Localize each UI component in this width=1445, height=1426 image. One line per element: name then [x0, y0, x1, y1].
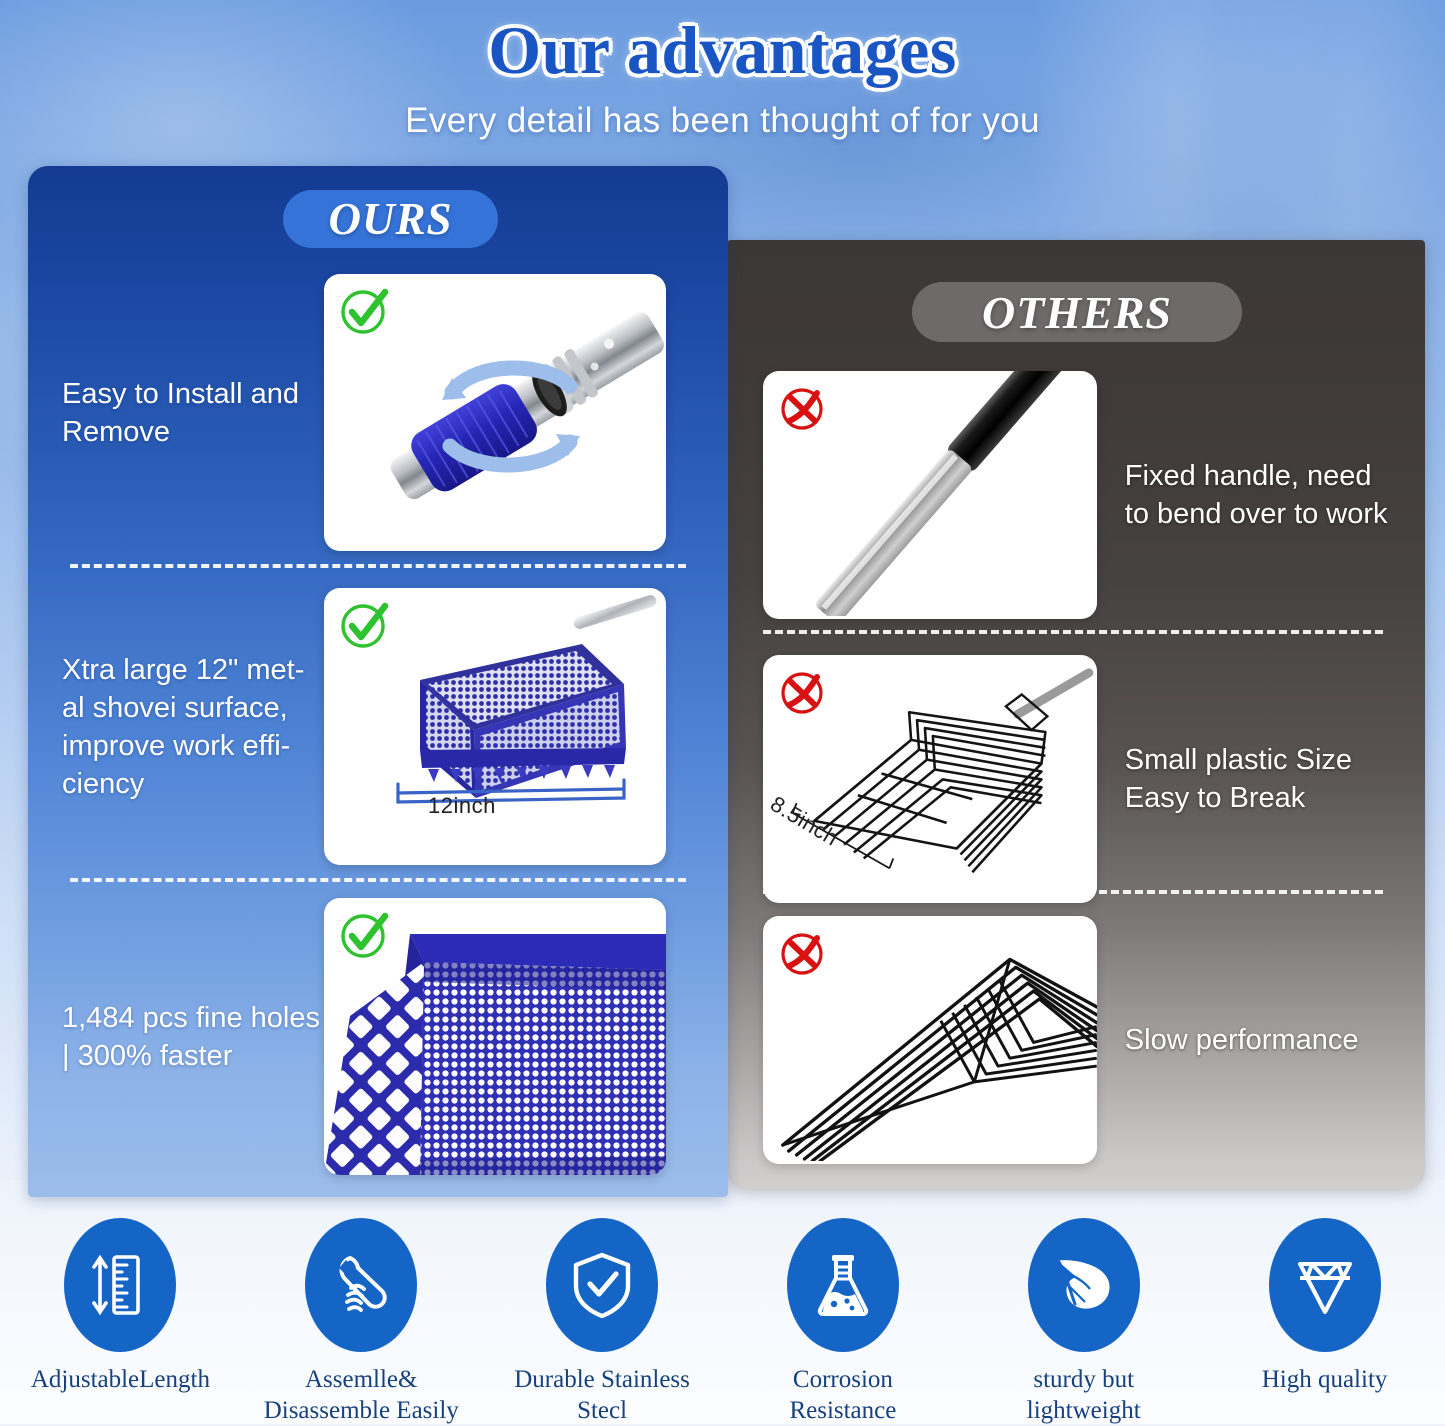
others-feature-3-image [763, 916, 1097, 1164]
icon-cell-adjustable-length: AdjustableLength [0, 1218, 241, 1424]
flask-icon-circle [787, 1218, 899, 1352]
others-feature-1-text: Fixed handle, need to bend over to work [1097, 457, 1425, 533]
wrench-hand-icon-circle [305, 1218, 417, 1352]
others-feature-3-text: Slow performance [1097, 1021, 1425, 1059]
green-check-circle-icon [338, 284, 392, 338]
others-badge: OTHERS [912, 282, 1242, 342]
ours-feature-row-1: Easy to Install and Remove [28, 270, 728, 555]
icon-label-corrosion: Corrosion Resistance [789, 1364, 896, 1426]
ours-feature-2-text: Xtra large 12" met- al shovei surface, i… [28, 651, 324, 803]
icon-cell-corrosion: Corrosion Resistance [722, 1218, 963, 1424]
feather-icon-circle [1028, 1218, 1140, 1352]
page-title: Our advantages [0, 10, 1445, 90]
icon-cell-lightweight: sturdy but lightweight [963, 1218, 1204, 1424]
others-feature-row-3: Slow performance [727, 905, 1425, 1175]
feature-icon-strip: AdjustableLength Assemlle& Disassemble E… [0, 1218, 1445, 1424]
ours-feature-row-2: Xtra large 12" met- al shovei surface, i… [28, 584, 728, 869]
shield-check-icon [565, 1248, 639, 1322]
others-feature-row-1: Fixed handle, need to bend over to work [727, 366, 1425, 624]
ours-separator-1 [70, 564, 686, 568]
green-check-circle-icon [338, 598, 392, 652]
icon-cell-stainless-steel: Durable Stainless Stecl [482, 1218, 723, 1424]
others-feature-1-image [763, 371, 1097, 619]
ours-feature-3-text: 1,484 pcs fine holes | 300% faster [28, 999, 324, 1075]
icon-label-high-quality: High quality [1262, 1364, 1388, 1395]
shield-check-icon-circle [546, 1218, 658, 1352]
icon-cell-assemble: Assemlle& Disassemble Easily [241, 1218, 482, 1424]
icon-cell-high-quality: High quality [1204, 1218, 1445, 1424]
icon-label-stainless-steel: Durable Stainless Stecl [514, 1364, 690, 1426]
ours-dimension-label: 12inch [428, 793, 496, 819]
ours-panel: OURS Easy to Install and Remove [28, 166, 728, 1197]
ours-separator-2 [70, 878, 686, 882]
others-separator-1 [763, 630, 1383, 634]
ours-badge: OURS [283, 190, 498, 248]
icon-label-lightweight: sturdy but lightweight [1027, 1364, 1141, 1426]
ours-feature-1-text: Easy to Install and Remove [28, 375, 324, 451]
diamond-icon-circle [1269, 1218, 1381, 1352]
ours-feature-3-image [324, 898, 666, 1175]
others-panel: OTHERS [727, 240, 1425, 1190]
others-feature-row-2: 8.5inch Small plastic Size Easy to Break [727, 650, 1425, 908]
red-cross-circle-icon [777, 665, 831, 719]
feather-icon [1045, 1246, 1123, 1324]
ours-feature-row-3: 1,484 pcs fine holes | 300% faster [28, 894, 728, 1179]
green-check-circle-icon [338, 908, 392, 962]
icon-label-assemble: Assemlle& Disassemble Easily [264, 1364, 459, 1426]
others-separator-2 [763, 890, 1383, 894]
page-subtitle: Every detail has been thought of for you [0, 98, 1445, 144]
icon-label-adjustable-length: AdjustableLength [31, 1364, 210, 1395]
diamond-icon [1286, 1246, 1364, 1324]
red-cross-circle-icon [777, 926, 831, 980]
ruler-icon-circle [64, 1218, 176, 1352]
flask-icon [806, 1248, 880, 1322]
header: Our advantages Every detail has been tho… [0, 10, 1445, 144]
wrench-hand-icon [324, 1248, 398, 1322]
red-cross-circle-icon [777, 381, 831, 435]
ruler-icon [83, 1248, 157, 1322]
ours-feature-1-image [324, 274, 666, 551]
ours-feature-2-image: 12inch [324, 588, 666, 865]
others-feature-2-image: 8.5inch [763, 655, 1097, 903]
others-feature-2-text: Small plastic Size Easy to Break [1097, 741, 1425, 817]
